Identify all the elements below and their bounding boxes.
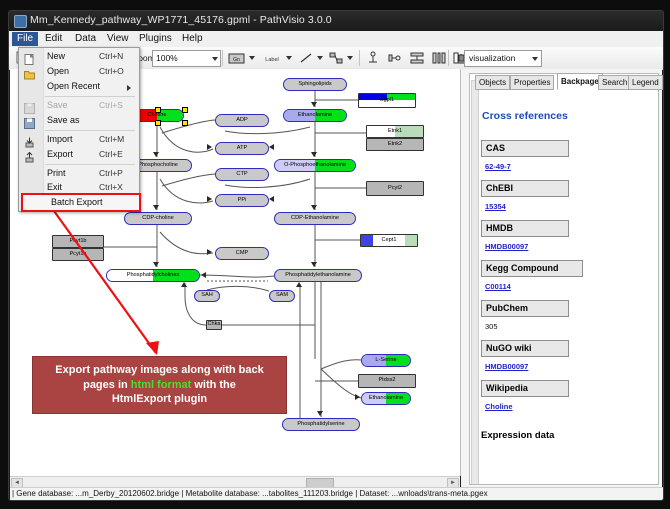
side-panel-vscrollbar[interactable] — [471, 80, 479, 485]
menu-help[interactable]: Help — [177, 32, 208, 46]
pathway-node[interactable]: Phosphatidylethanolamine — [274, 269, 362, 282]
pathway-node[interactable]: O-Phosphoethanolamine — [274, 159, 356, 172]
pathway-node-label: SAH — [201, 293, 213, 299]
tab-search[interactable]: Search — [598, 75, 631, 90]
datanode-icon[interactable]: Gn — [228, 51, 246, 65]
menu-item-open[interactable]: Open Ctrl+O — [19, 65, 139, 79]
pathway-node-label: Etnk2 — [388, 142, 402, 148]
xref-value-kegg[interactable]: C00114 — [485, 282, 511, 291]
side-panel-body: Cross references CAS 62-49-7 ChEBI 15354… — [469, 73, 659, 485]
pathway-node-label: Pcyt2 — [388, 186, 402, 192]
selection-handle[interactable] — [155, 120, 161, 126]
menu-plugins[interactable]: Plugins — [134, 32, 177, 46]
line-dropdown-icon[interactable] — [317, 56, 323, 60]
annotation-line1: Export pathway images along with back — [55, 364, 263, 376]
align-center-icon[interactable] — [388, 51, 402, 65]
screenshot-root: Mm_Kennedy_pathway_WP1771_45176.gpml - P… — [0, 0, 670, 509]
arrowhead-up — [296, 282, 302, 287]
tab-properties[interactable]: Properties — [510, 75, 554, 90]
menu-divider — [45, 96, 135, 97]
arrowhead-down — [153, 262, 159, 267]
export-icon — [24, 150, 35, 161]
backpage-content: Cross references CAS 62-49-7 ChEBI 15354… — [479, 94, 659, 485]
menu-item-open-recent[interactable]: Open Recent — [19, 80, 139, 94]
status-bar: | Gene database: ...m_Derby_20120602.bri… — [10, 487, 664, 500]
datanode-dropdown-icon[interactable] — [249, 56, 255, 60]
tab-backpage[interactable]: Backpage — [557, 73, 603, 90]
arrowhead-right — [207, 144, 212, 150]
menu-item-print-label: Print — [47, 168, 66, 178]
pathway-node-label: Pcyt1b — [69, 239, 86, 245]
menu-item-import[interactable]: Import Ctrl+M — [19, 133, 139, 147]
interaction-dropdown-icon[interactable] — [347, 56, 353, 60]
pathway-node-label: Phosphatidylcholines — [127, 273, 180, 279]
xref-value-nugo[interactable]: HMDB00097 — [485, 362, 528, 371]
menu-divider — [45, 164, 135, 165]
pathway-node-label: Ethanolamine — [298, 113, 332, 119]
pathway-node-label: Pcyt1a — [69, 252, 86, 258]
visualization-value: visualization — [469, 53, 515, 63]
xref-header-pubchem: PubChem — [481, 300, 569, 317]
pathway-node-label: ADP — [236, 118, 248, 124]
pathway-node[interactable]: ADP — [215, 114, 269, 127]
annotation-text: Export pathway images along with back pa… — [49, 363, 269, 408]
arrowhead-down — [311, 102, 317, 107]
pathway-node[interactable]: Phosphatidylcholines — [106, 269, 200, 282]
annotation-line2-green: html format — [131, 379, 192, 391]
title-bar: Mm_Kennedy_pathway_WP1771_45176.gpml - P… — [9, 11, 663, 31]
pathway-node-label: Ethanolamine — [369, 396, 403, 402]
arrowhead-down — [153, 205, 159, 210]
menu-item-open-label: Open — [47, 66, 69, 76]
pathway-node-label: O-Phosphoethanolamine — [284, 163, 346, 169]
xref-value-cas[interactable]: 62-49-7 — [485, 162, 511, 171]
pathway-node-label: Etnk1 — [388, 129, 402, 135]
annotation-line3: HtmlExport plugin — [112, 393, 207, 405]
pathway-node[interactable]: L-Serine — [361, 354, 411, 367]
pathway-node[interactable]: Sphingolipids — [283, 78, 347, 91]
window-title: Mm_Kennedy_pathway_WP1771_45176.gpml - P… — [30, 14, 332, 26]
annotation-line2-post: with the — [191, 379, 236, 391]
pathway-node[interactable]: Etnk2 — [366, 138, 424, 151]
pathvisio-window: Mm_Kennedy_pathway_WP1771_45176.gpml - P… — [8, 10, 664, 501]
file-menu-popup[interactable]: New Ctrl+N Open Ctrl+O Open Recent Save … — [18, 47, 140, 212]
side-panel: Cross references CAS 62-49-7 ChEBI 15354… — [461, 69, 662, 487]
pathway-node-label: L-Serine — [375, 358, 396, 364]
pathway-node[interactable]: SAM — [269, 290, 295, 302]
side-panel-tabs: Objects Properties Backpage Search Legen… — [469, 73, 659, 88]
new-file-icon — [24, 52, 35, 63]
pathway-node-label: Phosphocholine — [138, 163, 178, 169]
svg-text:Label: Label — [265, 57, 278, 63]
pathway-node[interactable]: Sgpl1 — [358, 93, 416, 108]
selection-handle[interactable] — [155, 107, 161, 113]
save-as-icon — [24, 116, 35, 127]
pathway-node[interactable]: Pcyt1a — [52, 248, 104, 261]
pathway-node[interactable]: PPi — [215, 194, 269, 207]
zoom-value: 100% — [156, 53, 178, 63]
arrowhead-down — [311, 262, 317, 267]
arrowhead-down — [311, 205, 317, 210]
menu-item-exit-label: Exit — [47, 182, 62, 192]
zoom-combo[interactable]: 100% — [152, 50, 221, 67]
xref-header-cas: CAS — [481, 140, 569, 157]
menu-item-open-recent-label: Open Recent — [47, 81, 100, 91]
stack-icon[interactable] — [410, 51, 424, 65]
line-icon[interactable] — [299, 51, 313, 65]
selection-handle[interactable] — [182, 120, 188, 126]
menu-item-save: Save Ctrl+S — [19, 99, 139, 113]
chevron-right-icon — [127, 85, 131, 91]
pathway-node[interactable]: SAH — [194, 290, 220, 302]
xref-header-hmdb: HMDB — [481, 220, 569, 237]
import-icon — [24, 135, 35, 146]
menu-item-new-label: New — [47, 51, 65, 61]
arrowhead-down — [311, 152, 317, 157]
pathway-node[interactable]: CDP-choline — [124, 212, 192, 225]
menu-divider — [45, 130, 135, 131]
pathway-node[interactable]: CTP — [215, 168, 269, 181]
xref-value-chebi[interactable]: 15354 — [485, 202, 506, 211]
xref-header-nugo: NuGO wiki — [481, 340, 569, 357]
pathway-node-label: CDP-Ethanolamine — [291, 216, 339, 222]
menu-item-print[interactable]: Print Ctrl+P — [19, 167, 139, 181]
annotation-callout: Export pathway images along with back pa… — [32, 356, 287, 414]
arrowhead-right — [207, 196, 212, 202]
pathway-node[interactable]: Cept1 — [360, 234, 418, 247]
distribute-icon[interactable] — [432, 51, 446, 65]
xref-value-wikipedia[interactable]: Choline — [485, 402, 513, 411]
menu-item-export-label: Export — [47, 149, 73, 159]
pathway-node-label: CTP — [236, 172, 247, 178]
arrowhead-right — [207, 249, 212, 255]
pathway-node-label: Sgpl1 — [380, 98, 394, 104]
menu-item-new[interactable]: New Ctrl+N — [19, 50, 139, 64]
chevron-down-icon — [212, 57, 218, 61]
pathway-node-label: Chka — [207, 322, 220, 328]
selection-handle[interactable] — [182, 107, 188, 113]
pathway-node-label: Ptdss2 — [378, 378, 395, 384]
svg-text:Gn: Gn — [233, 57, 240, 63]
arrowhead-down — [317, 411, 323, 416]
pathway-node[interactable]: Ptdss2 — [358, 374, 416, 388]
tab-legend[interactable]: Legend — [628, 75, 663, 90]
arrowhead-up — [181, 282, 187, 287]
open-folder-icon — [24, 67, 35, 78]
menu-item-save-accel: Ctrl+S — [99, 100, 123, 110]
menu-item-export[interactable]: Export Ctrl+E — [19, 148, 139, 162]
arrowhead-right — [355, 394, 360, 400]
xref-value-pubchem: 305 — [485, 322, 498, 331]
menu-edit[interactable]: Edit — [40, 32, 67, 46]
xref-header-chebi: ChEBI — [481, 180, 569, 197]
menu-item-save-as[interactable]: Save as — [19, 114, 139, 128]
arrowhead-left — [201, 272, 206, 278]
save-icon — [24, 101, 35, 112]
align-top-icon[interactable] — [366, 51, 380, 65]
pathway-node[interactable]: Phosphatidylserine — [282, 418, 360, 431]
arrowhead-left — [269, 144, 274, 150]
menu-bar: File Edit Data View Plugins Help — [9, 31, 663, 48]
menu-data[interactable]: Data — [70, 32, 101, 46]
menu-item-import-label: Import — [47, 134, 73, 144]
pathway-node-label: Sphingolipids — [298, 82, 331, 88]
menu-item-save-as-label: Save as — [47, 115, 80, 125]
pathway-node-label: Cept1 — [382, 238, 397, 244]
pathway-node-label: SAM — [276, 293, 288, 299]
pathway-node[interactable]: Pcyt2 — [366, 181, 424, 196]
pathway-node-label: Choline — [148, 113, 167, 119]
arrowhead-left — [269, 196, 274, 202]
pathway-node-label: Phosphatidylethanolamine — [285, 273, 351, 279]
menu-item-export-accel: Ctrl+E — [99, 149, 123, 159]
pathway-node-label: CDP-choline — [142, 216, 173, 222]
menu-item-print-accel: Ctrl+P — [99, 168, 123, 178]
pathway-node[interactable]: ATP — [215, 142, 269, 155]
app-icon — [14, 15, 27, 28]
pathway-node[interactable]: Pcyt1b — [52, 235, 104, 248]
xref-header-wikipedia: Wikipedia — [481, 380, 569, 397]
pathway-node-label: CMP — [236, 251, 248, 257]
menu-item-import-accel: Ctrl+M — [99, 134, 124, 144]
chevron-down-icon — [532, 57, 538, 61]
pathway-node[interactable]: CMP — [215, 247, 269, 260]
menu-item-exit-accel: Ctrl+X — [99, 182, 123, 192]
pathway-node[interactable]: Chka — [206, 320, 222, 330]
label-icon[interactable]: Label — [261, 51, 283, 65]
label-dropdown-icon[interactable] — [286, 56, 292, 60]
pathway-node[interactable]: Ethanolamine — [361, 392, 411, 405]
menu-item-open-accel: Ctrl+O — [99, 66, 124, 76]
interaction-icon[interactable] — [329, 51, 343, 65]
visualization-combo[interactable]: visualization — [464, 50, 542, 67]
menu-view[interactable]: View — [102, 32, 134, 46]
menu-item-batch-export-label: Batch Export — [51, 197, 103, 207]
annotation-line2-pre: pages in — [83, 379, 131, 391]
expression-data-heading: Expression data — [481, 430, 554, 441]
pathway-node-label: PPi — [238, 198, 247, 204]
xref-header-kegg: Kegg Compound — [481, 260, 583, 277]
xref-value-hmdb[interactable]: HMDB00097 — [485, 242, 528, 251]
pathway-node[interactable]: CDP-Ethanolamine — [274, 212, 356, 225]
cross-references-title: Cross references — [482, 110, 568, 122]
menu-item-save-label: Save — [47, 100, 68, 110]
pathway-node[interactable]: Etnk1 — [366, 125, 424, 138]
menu-item-batch-export[interactable]: Batch Export — [21, 193, 141, 212]
menu-file[interactable]: File — [12, 32, 38, 46]
menu-item-new-accel: Ctrl+N — [99, 51, 123, 61]
arrowhead-down — [153, 152, 159, 157]
pathway-node-label: Phosphatidylserine — [297, 422, 344, 428]
pathway-node[interactable]: Ethanolamine — [283, 109, 347, 122]
tab-objects[interactable]: Objects — [475, 75, 510, 90]
pathway-node-label: ATP — [237, 146, 247, 152]
